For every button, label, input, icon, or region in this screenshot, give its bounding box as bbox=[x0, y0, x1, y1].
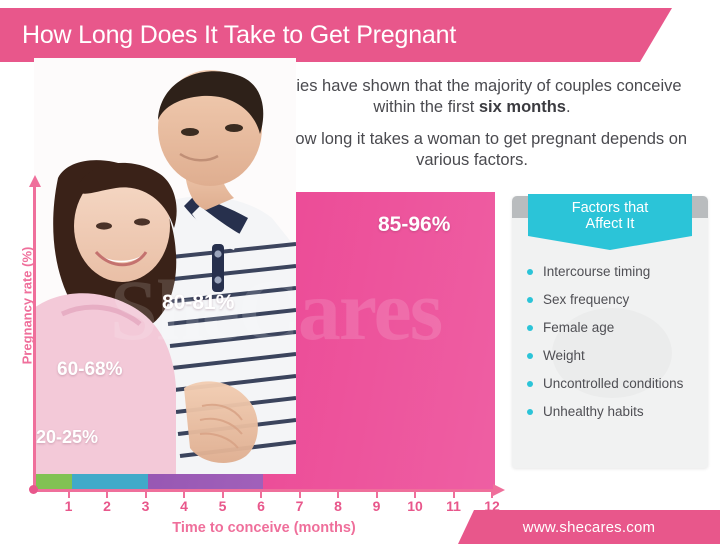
bullet-icon bbox=[527, 325, 533, 331]
bar-label-12-months: 85-96% bbox=[378, 213, 450, 237]
intro-line1-b: . bbox=[566, 98, 571, 116]
x-tick-label-8: 8 bbox=[323, 498, 353, 514]
x-axis-tick-labels: 123456789101112 bbox=[33, 498, 495, 518]
factor-item: Sex frequency bbox=[526, 292, 702, 308]
bar-label-1-month: 20-25% bbox=[36, 427, 98, 448]
x-tick-label-3: 3 bbox=[131, 498, 161, 514]
intro-text-block: Studies have shown that the majority of … bbox=[252, 76, 692, 171]
factor-item-label: Intercourse timing bbox=[543, 264, 650, 279]
bullet-icon bbox=[527, 353, 533, 359]
bar-label-3-months: 60-68% bbox=[57, 359, 123, 381]
factor-item-label: Unhealthy habits bbox=[543, 404, 644, 419]
factors-panel: Factors that Affect It Intercourse timin… bbox=[512, 196, 708, 468]
intro-paragraph-2: But how long it takes a woman to get pre… bbox=[252, 129, 692, 171]
bullet-icon bbox=[527, 269, 533, 275]
factor-item-label: Uncontrolled conditions bbox=[543, 376, 683, 391]
chart-bars: SheCares 85-96% 80-81% 60-68% 20-25% bbox=[0, 170, 520, 544]
footer-banner: www.shecares.com bbox=[458, 510, 720, 544]
bullet-icon bbox=[527, 409, 533, 415]
pregnancy-rate-chart: SheCares 85-96% 80-81% 60-68% 20-25% Pre… bbox=[0, 170, 520, 544]
panel-title-ribbon: Factors that Affect It bbox=[528, 194, 692, 250]
factor-item: Female age bbox=[526, 320, 702, 336]
x-tick-label-1: 1 bbox=[54, 498, 84, 514]
x-tick-label-6: 6 bbox=[246, 498, 276, 514]
header-banner: How Long Does It Take to Get Pregnant bbox=[0, 8, 672, 62]
factor-item-label: Sex frequency bbox=[543, 292, 629, 307]
factor-item: Uncontrolled conditions bbox=[526, 376, 702, 392]
x-tick-label-10: 10 bbox=[400, 498, 430, 514]
couple-photo bbox=[34, 58, 296, 474]
site-url: www.shecares.com bbox=[523, 519, 655, 536]
intro-line1-strong: six months bbox=[479, 98, 566, 116]
x-axis-label: Time to conceive (months) bbox=[33, 520, 495, 536]
bullet-icon bbox=[527, 297, 533, 303]
x-tick-label-7: 7 bbox=[285, 498, 315, 514]
intro-line1-a: Studies have shown that the majority of … bbox=[262, 77, 681, 116]
factor-item: Intercourse timing bbox=[526, 264, 702, 280]
x-tick-label-4: 4 bbox=[169, 498, 199, 514]
factor-item: Weight bbox=[526, 348, 702, 364]
page-title: How Long Does It Take to Get Pregnant bbox=[22, 21, 456, 50]
x-tick-label-11: 11 bbox=[439, 498, 469, 514]
factor-item-label: Female age bbox=[543, 320, 614, 335]
factor-item-label: Weight bbox=[543, 348, 585, 363]
panel-title-line2: Affect It bbox=[586, 216, 635, 232]
intro-paragraph-1: Studies have shown that the majority of … bbox=[252, 76, 692, 118]
infographic-root: How Long Does It Take to Get Pregnant St… bbox=[0, 0, 720, 544]
factor-item: Unhealthy habits bbox=[526, 404, 702, 420]
bar-label-6-months: 80-81% bbox=[162, 291, 234, 315]
x-tick-label-5: 5 bbox=[208, 498, 238, 514]
panel-title-line1: Factors that bbox=[572, 200, 649, 216]
factors-list: Intercourse timingSex frequencyFemale ag… bbox=[526, 264, 702, 432]
y-axis-label: Pregnancy rate (%) bbox=[20, 231, 35, 381]
x-tick-label-9: 9 bbox=[362, 498, 392, 514]
x-tick-label-2: 2 bbox=[92, 498, 122, 514]
bullet-icon bbox=[527, 381, 533, 387]
